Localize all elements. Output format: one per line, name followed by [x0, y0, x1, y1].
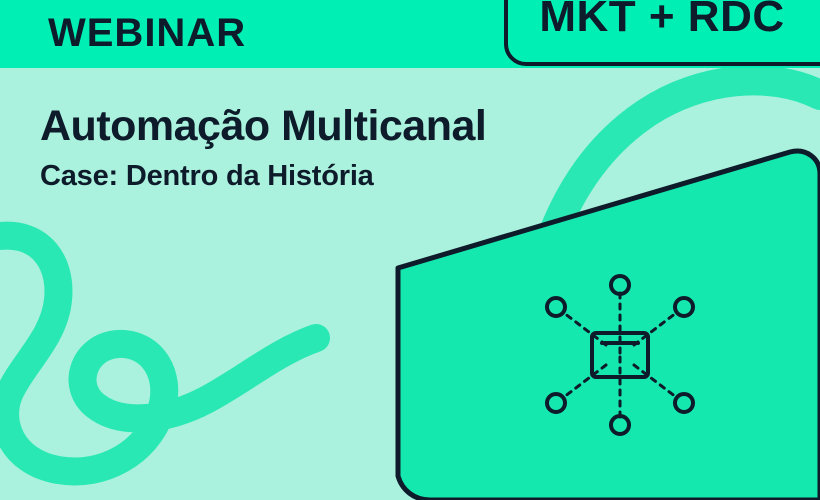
- page-title: Automação Multicanal: [40, 100, 486, 152]
- headline-block: Automação Multicanal Case: Dentro da His…: [40, 100, 486, 194]
- eyebrow-label: WEBINAR: [48, 7, 246, 59]
- page-subtitle: Case: Dentro da História: [40, 158, 486, 194]
- diagram-spokes: [564, 293, 676, 417]
- diagram-nodes: [547, 276, 693, 434]
- badge-label: MKT + RDC: [512, 0, 812, 50]
- webinar-banner: WEBINAR MKT + RDC Automação Multicanal C…: [0, 0, 820, 500]
- network-hub-diagram: [530, 265, 710, 445]
